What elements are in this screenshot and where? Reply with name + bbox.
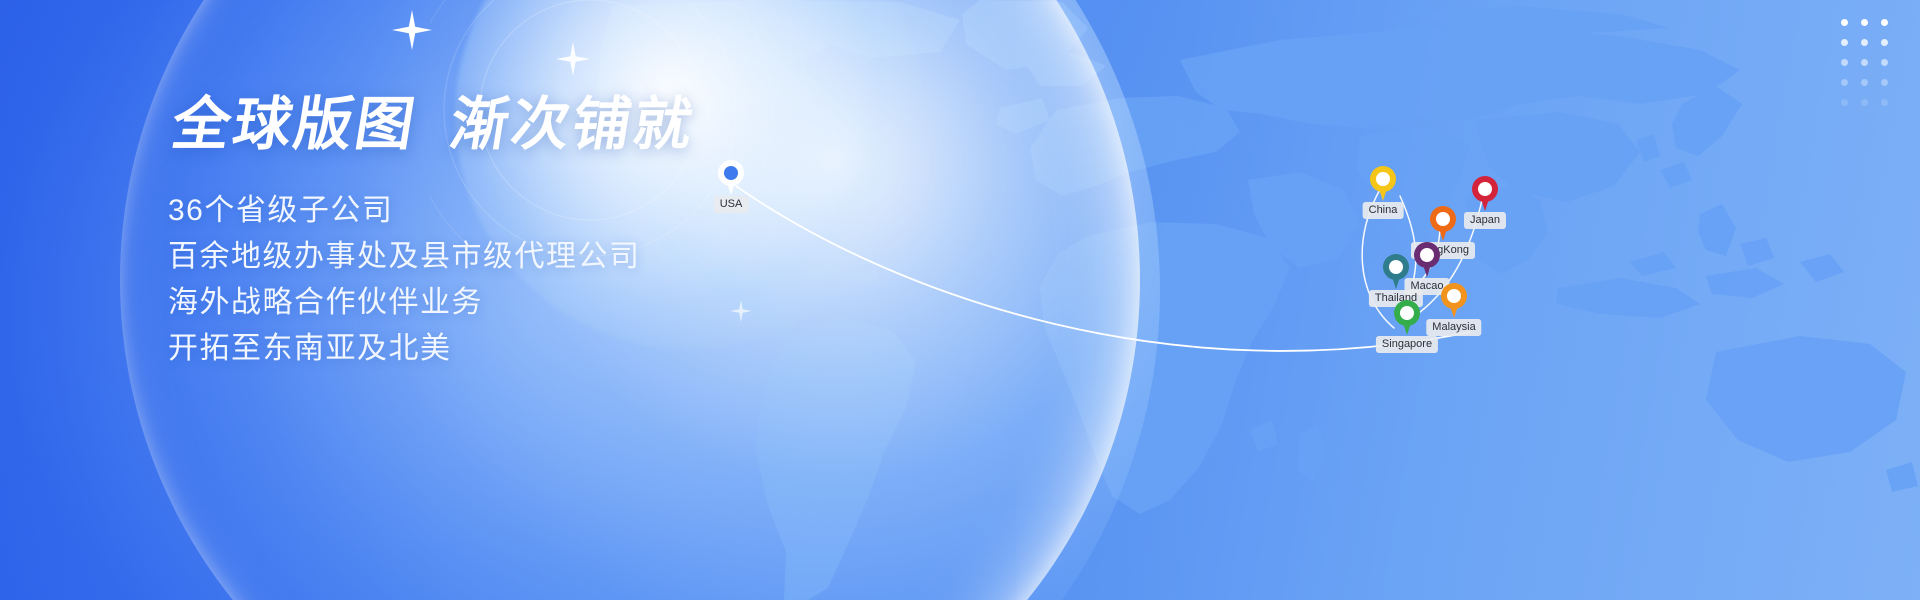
map-pin-icon [718,160,744,194]
banner-highlight-list: 36个省级子公司 百余地级办事处及县市级代理公司 海外战略合作伙伴业务 开拓至东… [168,188,928,372]
map-pin-icon [1383,254,1409,288]
map-marker-usa[interactable]: USA [718,160,744,194]
headline-part-1: 全球版图 [168,92,422,157]
map-marker-china[interactable]: China [1370,166,1396,200]
map-pin-icon [1370,166,1396,200]
map-marker-label: USA [714,196,749,213]
banner-text-block: 全球版图渐次铺就 36个省级子公司 百余地级办事处及县市级代理公司 海外战略合作… [168,96,928,372]
map-marker-label: Japan [1464,212,1506,229]
list-item: 海外战略合作伙伴业务 [168,280,928,326]
map-pin-icon [1441,283,1467,317]
map-marker-label: Singapore [1376,336,1438,353]
page-title: 全球版图渐次铺就 [168,96,937,154]
map-marker-malaysia[interactable]: Malaysia [1441,283,1467,317]
list-item: 百余地级办事处及县市级代理公司 [168,234,928,280]
map-marker-thailand[interactable]: Thailand [1383,254,1409,288]
map-marker-japan[interactable]: Japan [1472,176,1498,210]
map-marker-singapore[interactable]: Singapore [1394,300,1420,334]
map-pin-icon [1472,176,1498,210]
map-marker-macao[interactable]: Macao [1414,242,1440,276]
map-pin-icon [1414,242,1440,276]
map-pin-icon [1430,206,1456,240]
dot-grid-icon [1834,12,1894,112]
map-marker-label: China [1363,202,1404,219]
list-item: 开拓至东南亚及北美 [168,326,928,372]
map-pin-icon [1394,300,1420,334]
map-marker-hongkong[interactable]: HongKong [1430,206,1456,240]
map-marker-label: Malaysia [1426,319,1481,336]
global-map-banner: 全球版图渐次铺就 36个省级子公司 百余地级办事处及县市级代理公司 海外战略合作… [0,0,1920,600]
list-item: 36个省级子公司 [168,188,928,234]
headline-part-2: 渐次铺就 [446,92,700,157]
